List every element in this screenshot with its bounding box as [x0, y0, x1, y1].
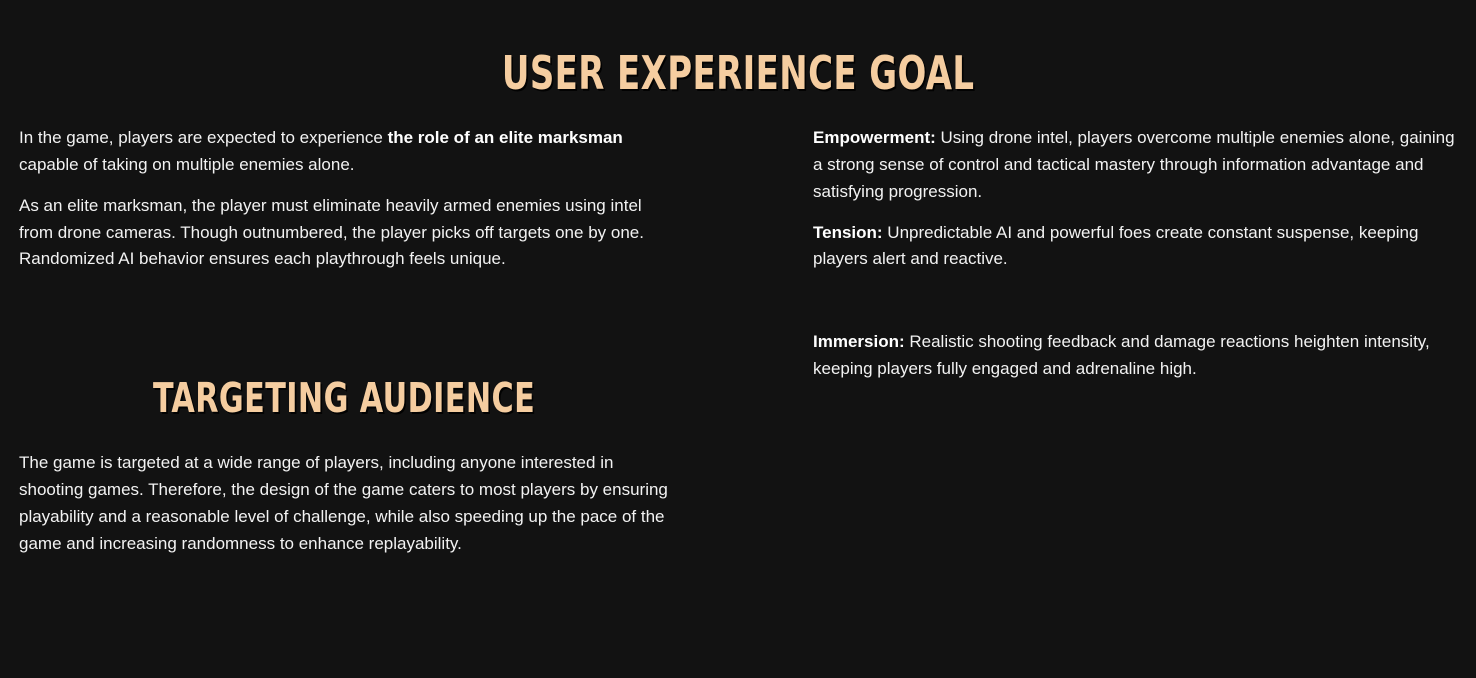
intro-bold-phrase: the role of an elite marksman [388, 128, 623, 147]
section-title-targeting-audience: Targeting Audience [153, 378, 535, 419]
pillar-empowerment-label: Empowerment: [813, 128, 936, 147]
intro-text-before: In the game, players are expected to exp… [19, 128, 388, 147]
main-title-container: User Experience Goal [0, 50, 1476, 96]
page-title: User Experience Goal [502, 50, 975, 96]
intro-text-after: capable of taking on multiple enemies al… [19, 155, 355, 174]
pillar-tension-text: Unpredictable AI and powerful foes creat… [813, 223, 1418, 269]
pillar-immersion-label: Immersion: [813, 332, 905, 351]
left-column-intro: In the game, players are expected to exp… [19, 125, 664, 273]
slide-root: User Experience Goal In the game, player… [0, 0, 1476, 678]
paragraph-spacer [813, 287, 1461, 315]
paragraph-intro: In the game, players are expected to exp… [19, 125, 664, 179]
right-column-pillars: Empowerment: Using drone intel, players … [813, 125, 1461, 383]
left-column-targeting-audience: The game is targeted at a wide range of … [19, 450, 669, 557]
pillar-immersion-text: Realistic shooting feedback and damage r… [813, 332, 1430, 378]
pillar-empowerment: Empowerment: Using drone intel, players … [813, 125, 1461, 206]
section-title-container: Targeting Audience [19, 378, 669, 419]
pillar-tension-label: Tension: [813, 223, 883, 242]
pillar-tension: Tension: Unpredictable AI and powerful f… [813, 220, 1461, 274]
paragraph-targeting-audience: The game is targeted at a wide range of … [19, 450, 669, 557]
paragraph-detail: As an elite marksman, the player must el… [19, 193, 664, 274]
pillar-immersion: Immersion: Realistic shooting feedback a… [813, 329, 1461, 383]
